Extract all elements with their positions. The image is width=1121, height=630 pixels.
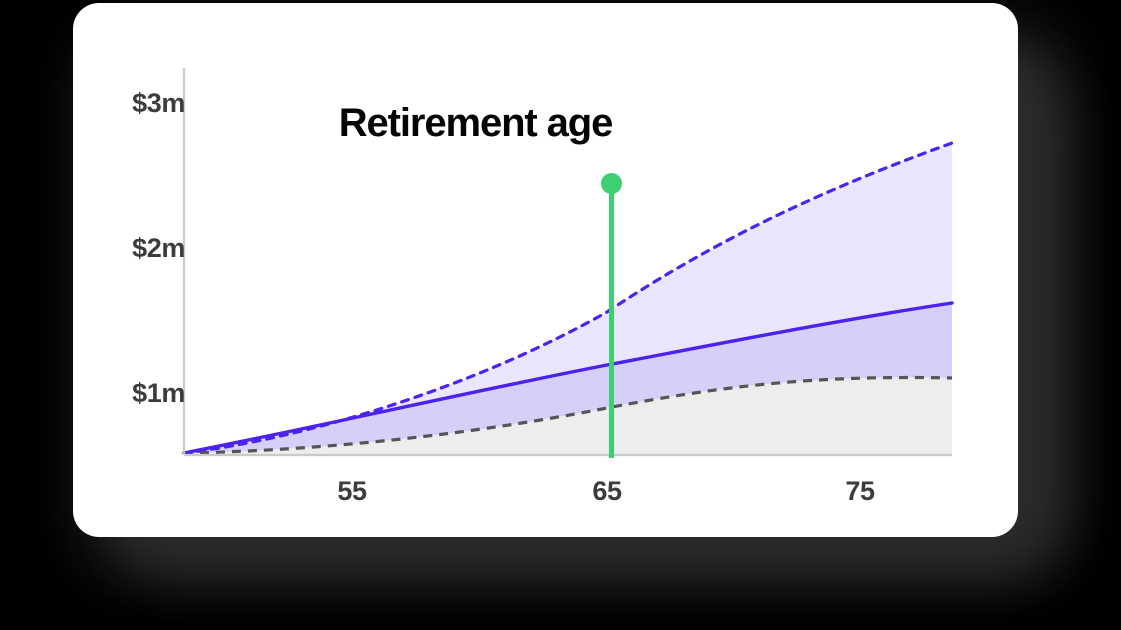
x-tick-label-65: 65 xyxy=(592,476,621,507)
retirement-age-marker[interactable] xyxy=(601,173,623,458)
chart-card: $3m $2m $1m 55 65 75 Retirement age xyxy=(73,3,1018,537)
x-axis-tick-labels: 55 65 75 xyxy=(73,3,1018,537)
chart-title: Retirement age xyxy=(73,101,1018,146)
retirement-marker-dot[interactable] xyxy=(601,173,622,194)
chart-title-text: Retirement age xyxy=(339,101,613,145)
retirement-marker-stem xyxy=(609,183,614,458)
x-tick-label-75: 75 xyxy=(845,476,874,507)
x-tick-label-55: 55 xyxy=(337,476,366,507)
retirement-projection-chart[interactable]: $3m $2m $1m 55 65 75 Retirement age xyxy=(73,3,1018,537)
